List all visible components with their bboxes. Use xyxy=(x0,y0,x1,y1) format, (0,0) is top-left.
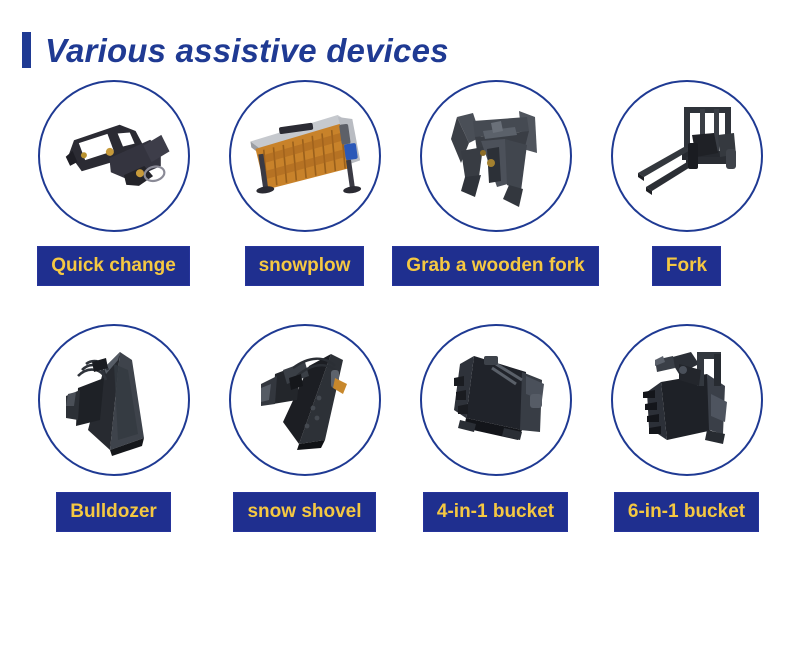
product-label[interactable]: snowplow xyxy=(245,246,365,286)
product-cell-6-in-1-bucket[interactable]: 6-in-1 bucket xyxy=(591,324,782,532)
product-label[interactable]: 6-in-1 bucket xyxy=(614,492,759,532)
product-cell-quick-change[interactable]: Quick change xyxy=(18,80,209,286)
product-row-1: Quick change xyxy=(0,56,800,286)
product-cell-fork[interactable]: Fork xyxy=(591,80,782,286)
product-cell-snow-shovel[interactable]: snow shovel xyxy=(209,324,400,532)
log-grapple-photo xyxy=(420,80,572,232)
product-cell-4-in-1-bucket[interactable]: 4-in-1 bucket xyxy=(400,324,591,532)
product-label[interactable]: 4-in-1 bucket xyxy=(423,492,568,532)
product-label[interactable]: Fork xyxy=(652,246,721,286)
product-label[interactable]: Bulldozer xyxy=(56,492,171,532)
product-cell-wooden-fork-grab[interactable]: Grab a wooden fork xyxy=(400,80,591,286)
product-label[interactable]: Quick change xyxy=(37,246,190,286)
page-header: Various assistive devices xyxy=(0,0,800,56)
quick-change-attachment-photo xyxy=(38,80,190,232)
dozer-blade-photo xyxy=(38,324,190,476)
product-cell-bulldozer[interactable]: Bulldozer xyxy=(18,324,209,532)
six-in-one-bucket-photo xyxy=(611,324,763,476)
page-title: Various assistive devices xyxy=(45,34,449,67)
snow-blade-photo xyxy=(229,324,381,476)
rotary-broom-sweeper-photo xyxy=(229,80,381,232)
title-accent-bar xyxy=(22,32,31,68)
product-row-2: Bulldozer xyxy=(0,286,800,532)
product-cell-snowplow[interactable]: snowplow xyxy=(209,80,400,286)
pallet-fork-photo xyxy=(611,80,763,232)
product-label[interactable]: Grab a wooden fork xyxy=(392,246,598,286)
four-in-one-bucket-photo xyxy=(420,324,572,476)
product-label[interactable]: snow shovel xyxy=(233,492,375,532)
